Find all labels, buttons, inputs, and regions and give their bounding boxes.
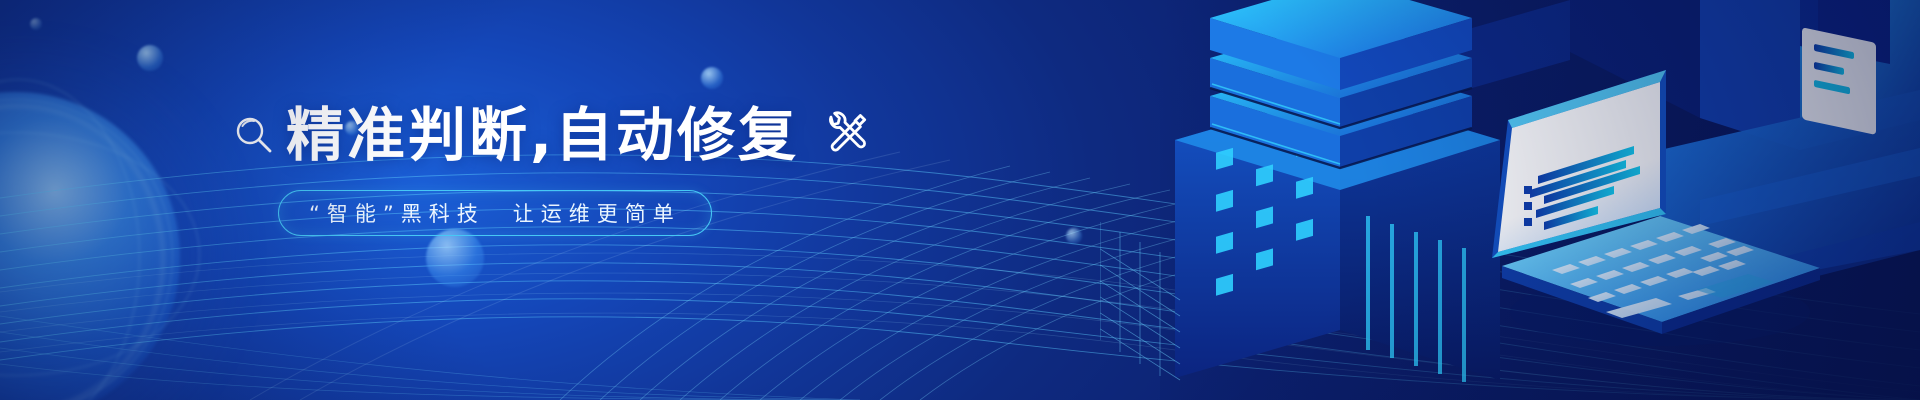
tech-banner: 精准判断,自动修复 “智能”黑科技 让运维更简单 <box>0 0 1920 400</box>
vignette-overlay <box>0 0 1920 400</box>
